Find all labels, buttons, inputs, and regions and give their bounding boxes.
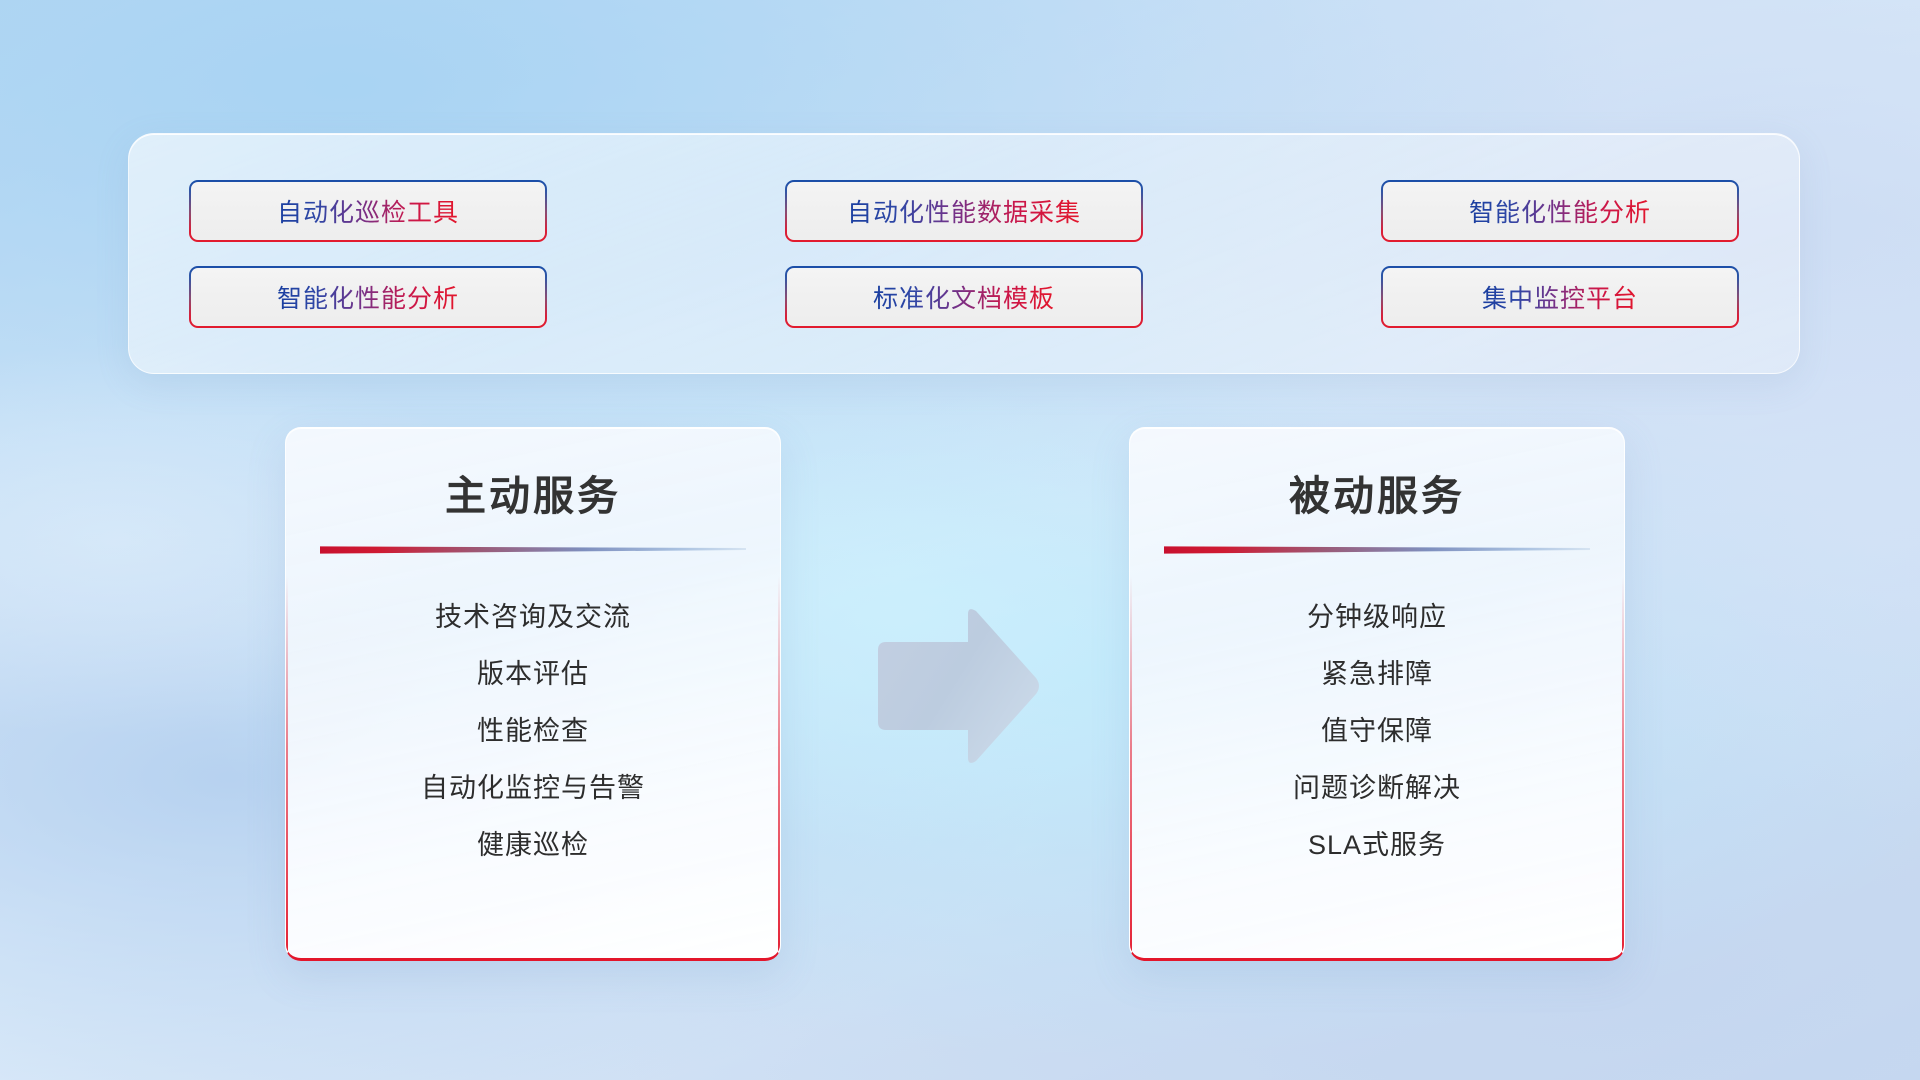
card-title: 被动服务 bbox=[1130, 462, 1624, 522]
arrow-right-icon bbox=[872, 606, 1042, 766]
capability-pill-centralized-monitoring-platform[interactable]: 集中监控平台 bbox=[1381, 266, 1739, 328]
capability-pill-automated-inspection-tool[interactable]: 自动化巡检工具 bbox=[189, 180, 547, 242]
service-item-list: 分钟级响应 紧急排障 值守保障 问题诊断解决 SLA式服务 bbox=[1130, 589, 1624, 874]
capability-row-2: 智能化性能分析 标准化文档模板 集中监控平台 bbox=[189, 266, 1739, 328]
capability-pill-label: 自动化性能数据采集 bbox=[847, 193, 1081, 229]
service-card-reactive: 被动服务 分钟级响应 紧急排障 值守保障 问题诊断解决 SLA式服务 bbox=[1129, 427, 1625, 961]
service-list-item: 值守保障 bbox=[1130, 703, 1624, 760]
service-list-item: 健康巡检 bbox=[286, 817, 780, 874]
capability-pill-label: 智能化性能分析 bbox=[1469, 193, 1651, 229]
capability-pill-intelligent-performance-analysis[interactable]: 智能化性能分析 bbox=[1381, 180, 1739, 242]
capability-pill-label: 标准化文档模板 bbox=[873, 279, 1055, 315]
service-list-item: 问题诊断解决 bbox=[1130, 760, 1624, 817]
capability-pill-label: 智能化性能分析 bbox=[277, 279, 459, 315]
service-card-proactive: 主动服务 技术咨询及交流 版本评估 性能检查 自动化监控与告警 健康巡检 bbox=[285, 427, 781, 961]
capability-pill-standardized-document-template[interactable]: 标准化文档模板 bbox=[785, 266, 1143, 328]
service-list-item: 技术咨询及交流 bbox=[286, 589, 780, 646]
service-list-item: SLA式服务 bbox=[1130, 817, 1624, 874]
service-item-list: 技术咨询及交流 版本评估 性能检查 自动化监控与告警 健康巡检 bbox=[286, 589, 780, 874]
capability-pill-label: 集中监控平台 bbox=[1482, 279, 1638, 315]
card-divider bbox=[1164, 544, 1590, 555]
service-list-item: 分钟级响应 bbox=[1130, 589, 1624, 646]
card-title: 主动服务 bbox=[286, 462, 780, 522]
service-list-item: 版本评估 bbox=[286, 646, 780, 703]
service-list-item: 性能检查 bbox=[286, 703, 780, 760]
service-list-item: 紧急排障 bbox=[1130, 646, 1624, 703]
card-divider bbox=[320, 544, 746, 555]
capability-pill-automated-performance-data-collection[interactable]: 自动化性能数据采集 bbox=[785, 180, 1143, 242]
capability-pill-intelligent-performance-analysis-2[interactable]: 智能化性能分析 bbox=[189, 266, 547, 328]
capability-row-1: 自动化巡检工具 自动化性能数据采集 智能化性能分析 bbox=[189, 180, 1739, 242]
capability-pill-label: 自动化巡检工具 bbox=[277, 193, 459, 229]
capability-panel: 自动化巡检工具 自动化性能数据采集 智能化性能分析 智能化性能分析 标准化文档模… bbox=[128, 133, 1800, 374]
service-list-item: 自动化监控与告警 bbox=[286, 760, 780, 817]
